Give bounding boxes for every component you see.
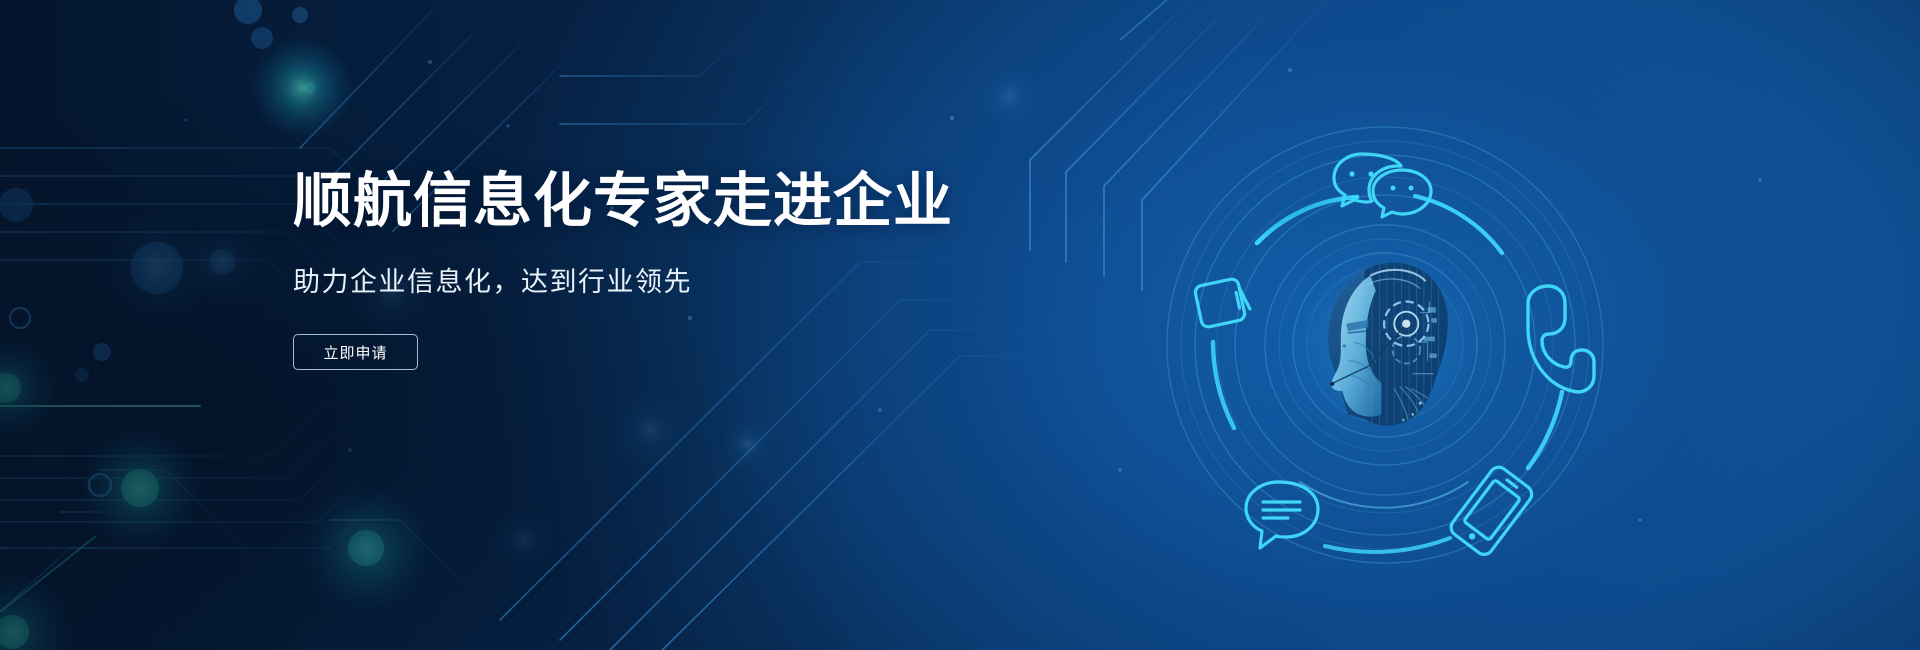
ai-hologram-graphic <box>1150 110 1620 580</box>
mobile-phone-icon <box>1448 464 1536 558</box>
robot-head-icon <box>1311 256 1459 434</box>
page-subtitle: 助力企业信息化，达到行业领先 <box>293 260 993 299</box>
apply-now-button[interactable]: 立即申请 <box>293 334 418 370</box>
hero-content: 顺航信息化专家走进企业 助力企业信息化，达到行业领先 立即申请 <box>293 168 993 370</box>
hero-banner: 顺航信息化专家走进企业 助力企业信息化，达到行业领先 立即申请 <box>0 0 1920 650</box>
page-title: 顺航信息化专家走进企业 <box>293 168 993 234</box>
message-bubble-icon <box>1246 482 1318 548</box>
wechat-icon <box>1334 154 1431 217</box>
